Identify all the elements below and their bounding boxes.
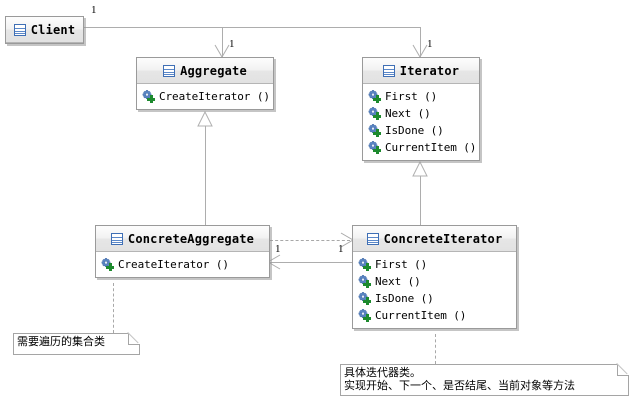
class-member-label: CreateIterator () [159, 90, 270, 103]
class-members-iterator: First () Next () [363, 84, 479, 160]
method-public-icon [368, 90, 381, 103]
class-member-label: Next () [375, 275, 421, 288]
class-member[interactable]: Next () [368, 105, 477, 122]
class-member[interactable]: CreateIterator () [101, 256, 267, 273]
plus-badge [373, 129, 381, 137]
class-member[interactable]: CreateIterator () [142, 88, 271, 105]
class-name-client: Client [31, 23, 76, 37]
method-public-icon [368, 124, 381, 137]
plus-badge [363, 280, 371, 288]
multiplicity-concrete-iterator-end: 1 [338, 243, 344, 255]
multiplicity-iterator: 1 [427, 38, 433, 50]
class-member[interactable]: First () [358, 256, 514, 273]
class-member[interactable]: IsDone () [368, 122, 477, 139]
method-public-icon [142, 90, 155, 103]
class-member-label: First () [385, 90, 437, 103]
class-header-client: Client [6, 17, 83, 43]
connector-concreteiterator-to-iterator [420, 163, 421, 225]
class-box-concrete-iterator[interactable]: ConcreteIterator First () [352, 225, 517, 329]
class-member-label: CurrentItem () [385, 141, 476, 154]
plus-badge [363, 314, 371, 322]
connector-note-iterator-stem [435, 334, 436, 364]
plus-badge [363, 297, 371, 305]
note-text-line: 具体迭代器类。 [344, 366, 618, 379]
multiplicity-aggregate: 1 [229, 38, 235, 50]
class-header-iterator: Iterator [363, 58, 479, 84]
method-public-icon [358, 258, 371, 271]
note-box-iterator[interactable]: 具体迭代器类。 实现开始、下一个、是否结尾、当前对象等方法 [340, 364, 629, 396]
class-member-label: Next () [385, 107, 431, 120]
method-public-icon [358, 309, 371, 322]
connector-concreteaggregate-to-aggregate [205, 125, 206, 225]
method-public-icon [358, 292, 371, 305]
method-public-icon [101, 258, 114, 271]
class-member-label: IsDone () [375, 292, 434, 305]
class-name-concrete-iterator: ConcreteIterator [384, 232, 503, 246]
plus-badge [373, 112, 381, 120]
method-public-icon [368, 141, 381, 154]
class-members-concrete-aggregate: CreateIterator () [96, 252, 269, 277]
class-icon [111, 233, 123, 245]
class-icon [367, 233, 379, 245]
class-members-aggregate: CreateIterator () [137, 84, 273, 109]
plus-badge [147, 95, 155, 103]
class-icon [383, 65, 395, 77]
note-box-aggregate[interactable]: 需要遍历的集合类 [13, 333, 140, 355]
class-box-aggregate[interactable]: Aggregate CreateIterator () [136, 57, 274, 110]
class-member[interactable]: CurrentItem () [358, 307, 514, 324]
note-text-line: 实现开始、下一个、是否结尾、当前对象等方法 [344, 379, 618, 392]
note-fold-corner [617, 364, 629, 376]
class-box-client[interactable]: Client [5, 16, 84, 44]
class-name-concrete-aggregate: ConcreteAggregate [128, 232, 254, 246]
class-member[interactable]: IsDone () [358, 290, 514, 307]
connector-client-trunk [84, 27, 420, 28]
class-name-iterator: Iterator [400, 64, 459, 78]
class-header-concrete-iterator: ConcreteIterator [353, 226, 516, 252]
class-member[interactable]: Next () [358, 273, 514, 290]
method-public-icon [358, 275, 371, 288]
uml-diagram-canvas: 1 1 1 1 1 Client Aggregate Creat [0, 0, 638, 401]
connector-dependency-aggregate-iterator [270, 240, 350, 241]
class-member-label: IsDone () [385, 124, 444, 137]
class-members-concrete-iterator: First () Next () [353, 252, 516, 328]
plus-badge [373, 95, 381, 103]
connector-note-aggregate-stem [113, 283, 114, 333]
method-public-icon [368, 107, 381, 120]
class-box-iterator[interactable]: Iterator First () [362, 57, 480, 161]
class-icon [14, 24, 26, 36]
note-fold-corner [128, 333, 140, 345]
class-box-concrete-aggregate[interactable]: ConcreteAggregate CreateIterator () [95, 225, 270, 278]
class-member[interactable]: First () [368, 88, 477, 105]
multiplicity-client: 1 [91, 4, 97, 16]
multiplicity-concrete-aggregate-end: 1 [275, 243, 281, 255]
plus-badge [373, 146, 381, 154]
class-icon [163, 65, 175, 77]
class-header-aggregate: Aggregate [137, 58, 273, 84]
connector-client-to-iterator [420, 27, 421, 57]
class-name-aggregate: Aggregate [180, 64, 247, 78]
note-text-line: 需要遍历的集合类 [17, 335, 129, 348]
connector-association-iterator-aggregate [268, 262, 352, 263]
class-member-label: First () [375, 258, 427, 271]
class-member-label: CreateIterator () [118, 258, 229, 271]
class-member-label: CurrentItem () [375, 309, 466, 322]
class-header-concrete-aggregate: ConcreteAggregate [96, 226, 269, 252]
connector-client-to-aggregate [222, 27, 223, 57]
plus-badge [363, 263, 371, 271]
class-member[interactable]: CurrentItem () [368, 139, 477, 156]
plus-badge [106, 263, 114, 271]
